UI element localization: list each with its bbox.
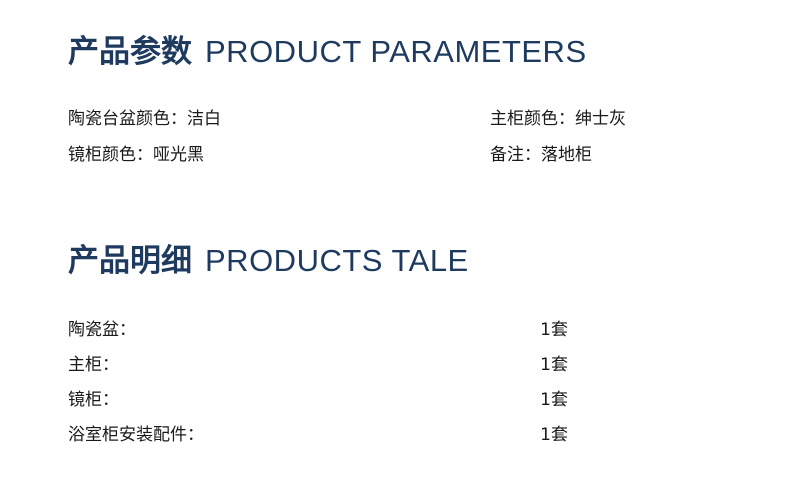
section-heading-product-details: 产品明细PRODUCTS TALE [68,245,469,277]
section-heading-product-parameters: 产品参数PRODUCT PARAMETERS [68,36,587,68]
detail-item-label-main-cabinet: 主柜： [68,353,119,377]
parameter-item-mirror-cabinet-color: 镜柜颜色：哑光黑 [68,143,490,167]
parameter-row: 镜柜颜色：哑光黑 备注：落地柜 [68,143,708,167]
list-item: 浴室柜安装配件： 1套 [68,423,568,447]
parameter-item-remark: 备注：落地柜 [490,143,708,167]
detail-item-label-ceramic-basin: 陶瓷盆： [68,318,136,342]
parameter-item-main-cabinet-color: 主柜颜色：绅士灰 [490,107,708,131]
product-details-list: 陶瓷盆： 1套 主柜： 1套 镜柜： 1套 浴室柜安装配件： 1套 [68,318,568,447]
detail-item-qty-ceramic-basin: 1套 [522,318,568,342]
list-item: 主柜： 1套 [68,353,568,377]
list-item: 镜柜： 1套 [68,388,568,412]
list-item: 陶瓷盆： 1套 [68,318,568,342]
parameters-block: 陶瓷台盆颜色：洁白 主柜颜色：绅士灰 镜柜颜色：哑光黑 备注：落地柜 [68,107,708,167]
section-heading-parameters-en: PRODUCT PARAMETERS [205,34,587,69]
product-spec-page: 产品参数PRODUCT PARAMETERS 陶瓷台盆颜色：洁白 主柜颜色：绅士… [0,0,790,490]
section-heading-details-cn: 产品明细 [68,243,192,279]
parameter-row: 陶瓷台盆颜色：洁白 主柜颜色：绅士灰 [68,107,708,131]
detail-item-qty-main-cabinet: 1套 [522,353,568,377]
detail-item-label-installation-accessories: 浴室柜安装配件： [68,423,204,447]
detail-item-qty-mirror-cabinet: 1套 [522,388,568,412]
detail-item-qty-installation-accessories: 1套 [522,423,568,447]
detail-item-label-mirror-cabinet: 镜柜： [68,388,119,412]
parameter-item-ceramic-basin-color: 陶瓷台盆颜色：洁白 [68,107,490,131]
section-heading-parameters-cn: 产品参数 [68,34,192,70]
section-heading-details-en: PRODUCTS TALE [205,243,469,278]
